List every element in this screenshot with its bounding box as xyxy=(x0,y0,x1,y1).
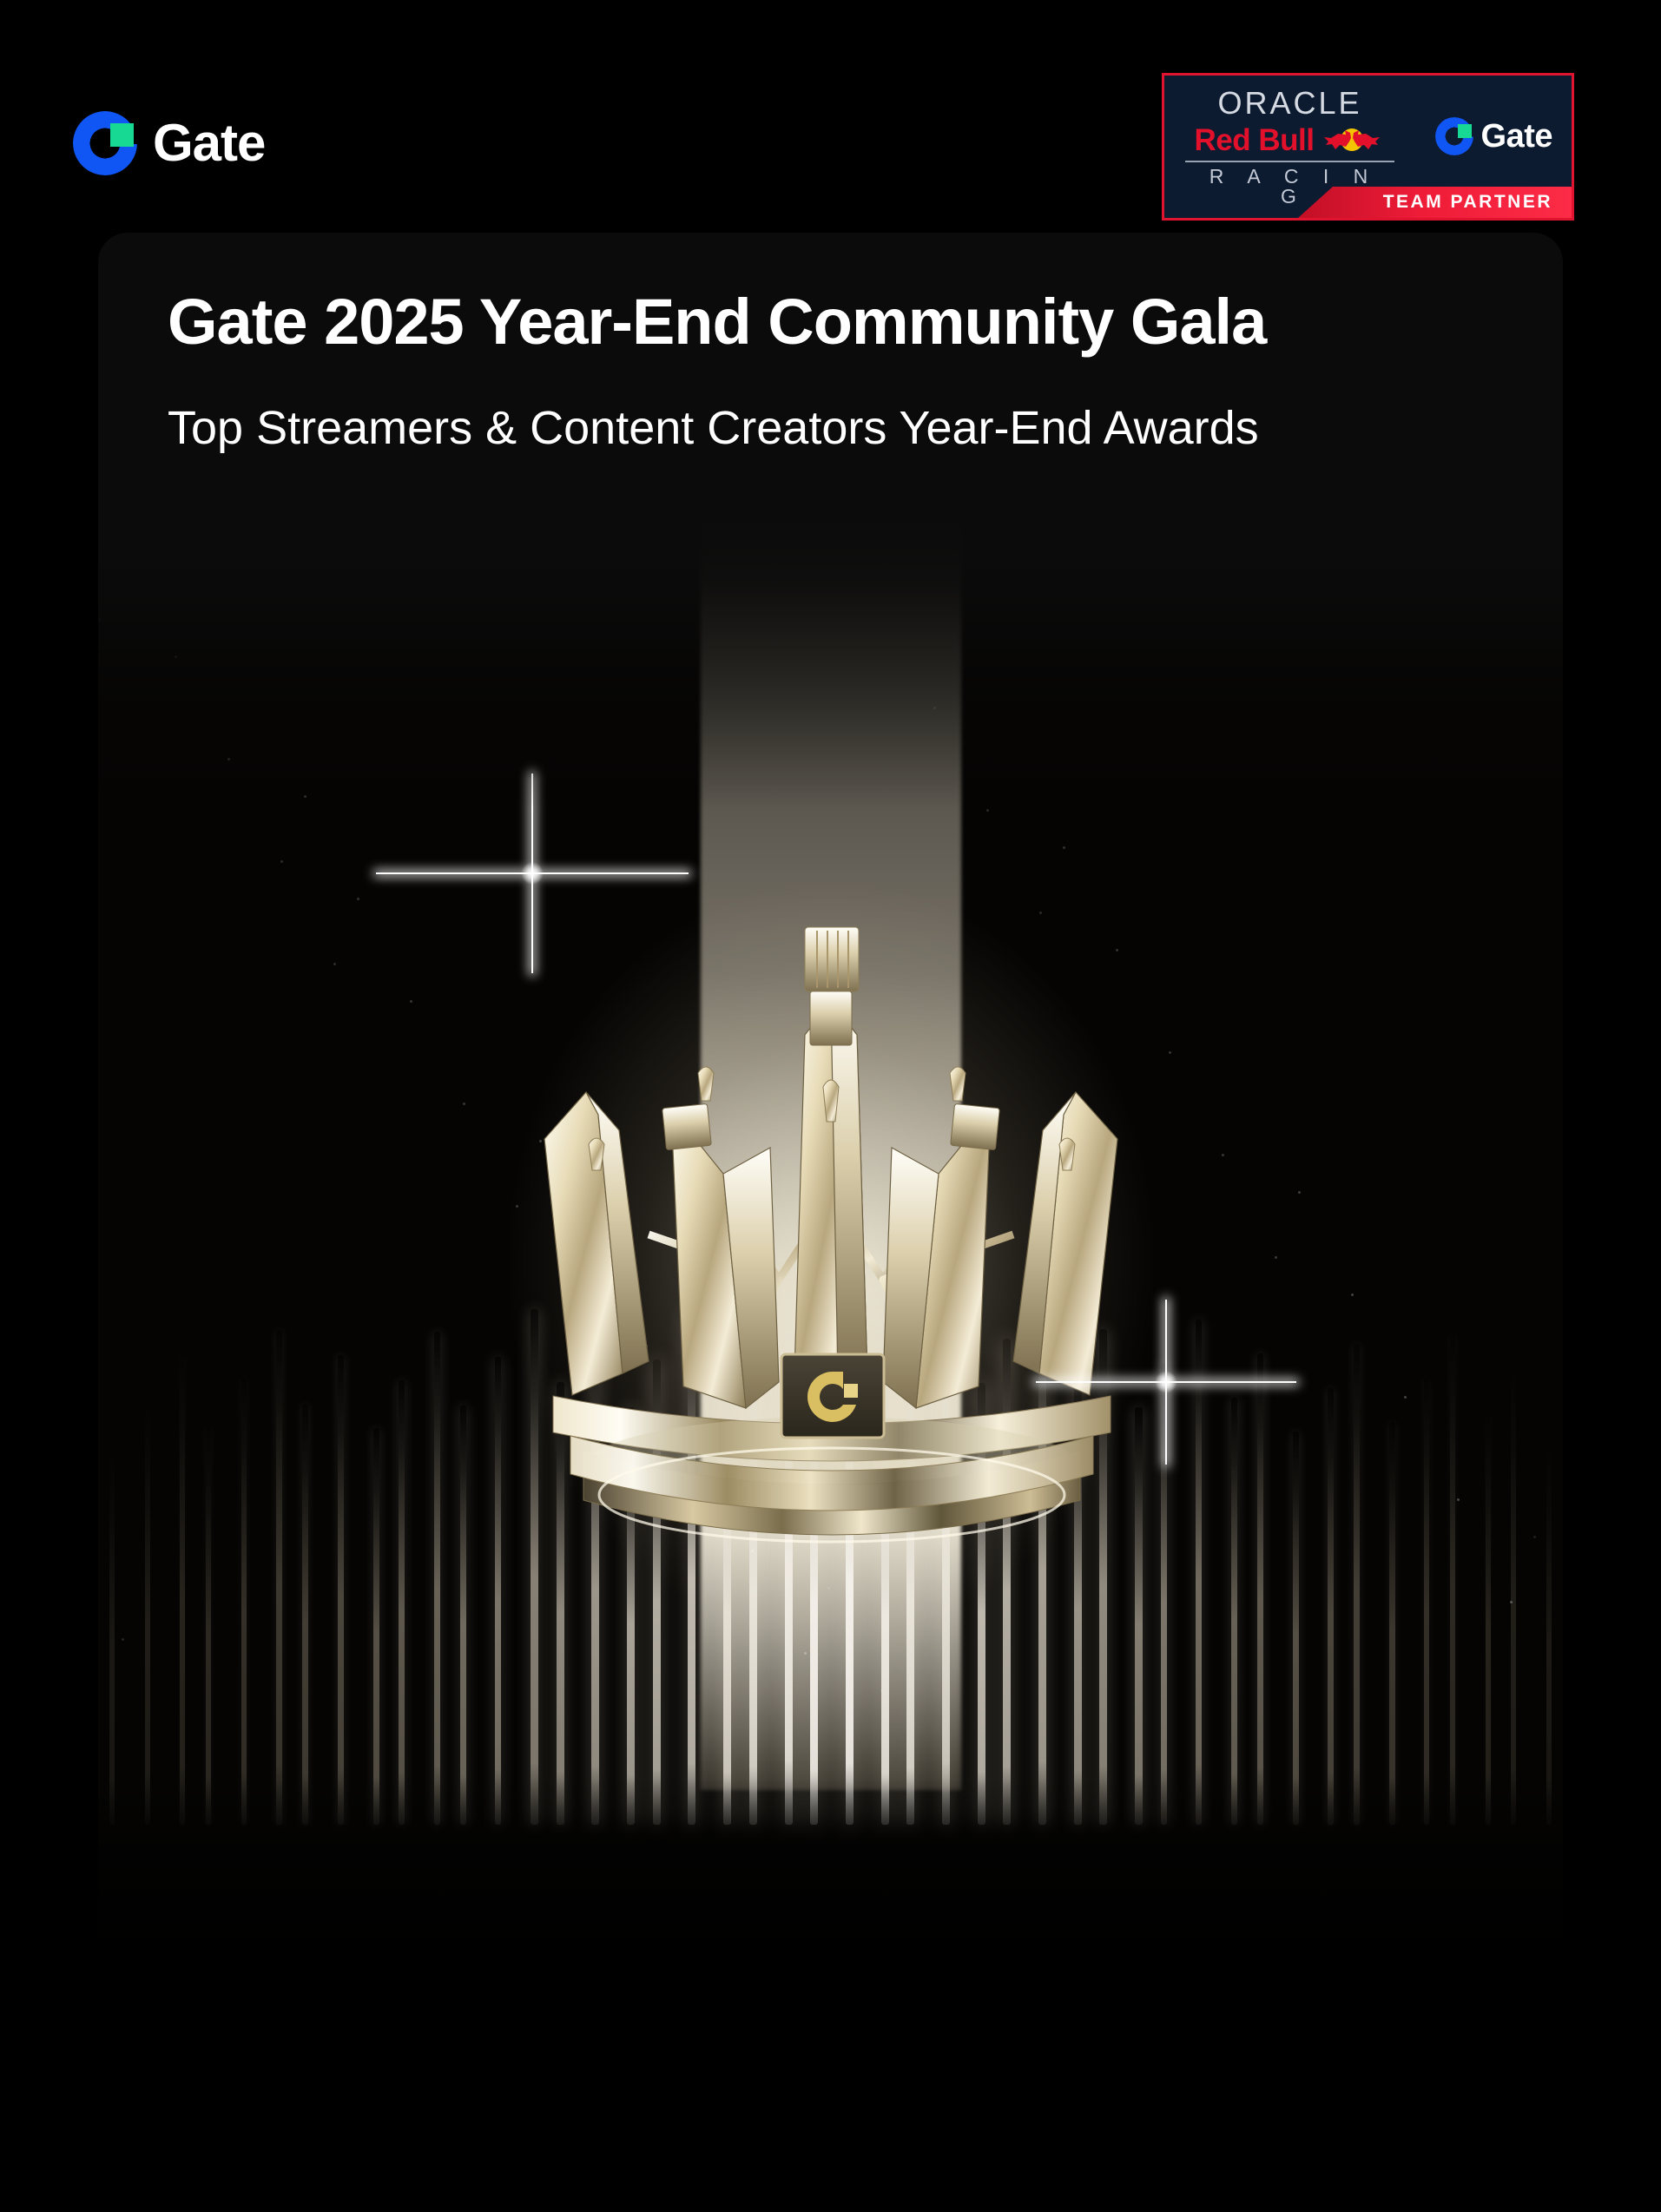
light-rod xyxy=(1354,1344,1360,1825)
dust-mote xyxy=(280,860,283,863)
card-text-block: Gate 2025 Year-End Community Gala Top St… xyxy=(98,233,1563,460)
page-header: Gate ORACLE Red Bull R A C I N G xyxy=(0,0,1661,233)
oracle-label: ORACLE xyxy=(1183,88,1396,119)
gate-logo-icon-small xyxy=(1435,117,1473,155)
dust-mote xyxy=(986,809,989,812)
dust-mote xyxy=(1275,1256,1277,1259)
light-rod xyxy=(276,1330,282,1825)
dust-mote xyxy=(1063,846,1065,849)
dust-mote xyxy=(1404,1396,1407,1399)
dust-mote xyxy=(1457,1498,1460,1501)
team-partner-label: TEAM PARTNER xyxy=(1383,192,1552,213)
light-rod xyxy=(1231,1398,1237,1825)
hero-top-fade xyxy=(98,514,1563,809)
gate-wordmark: Gate xyxy=(153,117,265,169)
dust-mote xyxy=(1298,1191,1301,1194)
gate-logo-icon xyxy=(73,111,137,175)
light-rod xyxy=(338,1355,344,1825)
event-card: Gate 2025 Year-End Community Gala Top St… xyxy=(98,233,1563,2004)
light-rod xyxy=(1389,1422,1395,1825)
light-rod xyxy=(109,1451,115,1825)
dust-mote xyxy=(1533,1536,1536,1538)
badge-gate-logo: Gate xyxy=(1435,117,1552,155)
light-rod xyxy=(1486,1412,1491,1825)
dust-mote xyxy=(333,963,336,965)
crown-svg xyxy=(518,887,1144,1599)
dust-mote xyxy=(1351,1294,1354,1296)
light-rod xyxy=(1161,1363,1167,1825)
light-rod xyxy=(1424,1379,1429,1825)
dust-mote xyxy=(1169,1051,1171,1054)
dust-mote xyxy=(463,1103,465,1105)
dust-mote xyxy=(1510,1601,1513,1603)
crown-trophy xyxy=(518,887,1144,1599)
badge-divider xyxy=(1185,161,1394,162)
dust-mote xyxy=(1222,1154,1224,1156)
oracle-red-bull-racing-partner-badge[interactable]: ORACLE Red Bull R A C I N G xyxy=(1162,73,1574,221)
light-rod xyxy=(399,1380,405,1825)
light-rod xyxy=(145,1402,150,1825)
dust-mote xyxy=(880,1689,883,1692)
light-rod xyxy=(1196,1320,1202,1825)
light-rod xyxy=(1450,1334,1455,1825)
light-rod xyxy=(1293,1432,1299,1825)
light-rod xyxy=(180,1353,185,1825)
light-rod xyxy=(460,1406,466,1825)
red-bull-label: Red Bull xyxy=(1195,125,1315,155)
light-rod xyxy=(241,1379,247,1825)
light-rod xyxy=(1257,1353,1263,1825)
light-rod xyxy=(434,1332,440,1825)
light-rod xyxy=(1328,1388,1334,1825)
team-partner-banner: TEAM PARTNER xyxy=(1298,187,1572,218)
light-rod xyxy=(302,1404,308,1825)
badge-gate-wordmark: Gate xyxy=(1481,120,1552,153)
dust-mote xyxy=(804,1652,807,1655)
hero-bottom-fade xyxy=(98,1778,1563,2004)
light-rod xyxy=(373,1428,379,1825)
light-rod xyxy=(206,1427,211,1825)
dust-mote xyxy=(122,1638,124,1641)
light-rod xyxy=(495,1357,501,1825)
light-rod xyxy=(1546,1446,1552,1825)
crown-trophy-image xyxy=(98,514,1563,2004)
dust-mote xyxy=(357,898,359,900)
gate-brand-logo[interactable]: Gate xyxy=(73,111,265,175)
light-rod xyxy=(1511,1368,1516,1825)
dust-mote xyxy=(410,1000,412,1003)
page-root: Gate ORACLE Red Bull R A C I N G xyxy=(0,0,1661,2212)
page-subtitle: Top Streamers & Content Creators Year-En… xyxy=(168,398,1493,460)
page-title: Gate 2025 Year-End Community Gala xyxy=(168,278,1493,366)
red-bull-icon xyxy=(1319,126,1385,155)
